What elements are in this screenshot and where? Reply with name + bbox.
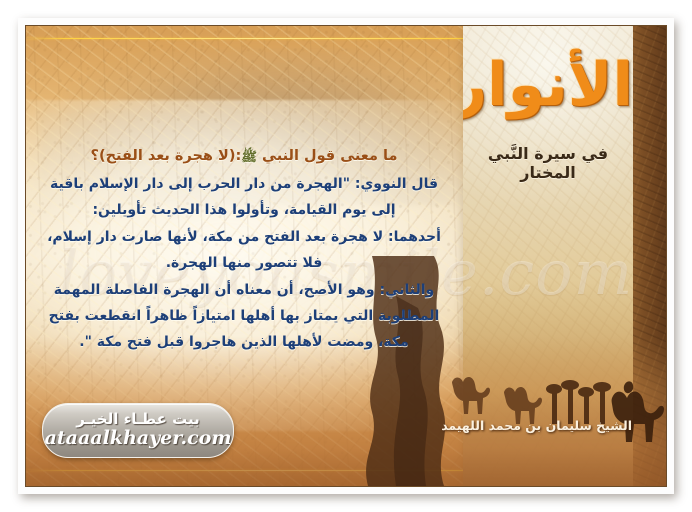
body-line: فلا تتصور منها الهجرة. (34, 253, 454, 274)
sallallahu-alayhi-wasallam-icon: ﷺ (241, 149, 257, 168)
body-line: مكة، ومضت لأهلها الذين هاجروا قبل فتح مك… (34, 332, 454, 353)
book-sub-title: في سيرة النَّبي المختار (463, 144, 633, 182)
body-line: المطلوبة التي يمتاز بها أهلها امتيازاً ظ… (34, 306, 454, 327)
body-line: قال النووي: "الهجرة من دار الحرب إلى دار… (34, 174, 454, 195)
camel-caravan-silhouette (416, 346, 667, 464)
article-text-block: ما معنى قول النبي ﷺ:(لا هجرة بعد الفتح)؟… (34, 146, 454, 358)
question-heading-before: ما معنى قول النبي (262, 148, 397, 164)
poster-root: loveyousmile.com الأنوار في سيرة النَّبي… (0, 0, 692, 512)
poster-canvas: loveyousmile.com الأنوار في سيرة النَّبي… (25, 25, 667, 487)
question-heading-after: :(لا هجرة بعد الفتح)؟ (91, 148, 242, 164)
question-heading: ما معنى قول النبي ﷺ:(لا هجرة بعد الفتح)؟ (34, 146, 454, 167)
site-logo-badge[interactable]: بيت عطـاء الخيـر ataaalkhayer.com (42, 403, 234, 458)
author-credit: الشيخ سليمان بن محمد اللهيمد (441, 418, 632, 433)
body-line: والثاني: وهو الأصح، أن معناه أن الهجرة ا… (34, 280, 454, 301)
site-logo-url: ataaalkhayer.com (45, 428, 232, 450)
book-main-title: الأنوار (463, 48, 633, 123)
body-line: أحدهما: لا هجرة بعد الفتح من مكة، لأنها … (34, 227, 454, 248)
site-logo-arabic-name: بيت عطـاء الخيـر (76, 411, 200, 428)
body-line: إلى يوم القيامة، وتأولوا هذا الحديث تأوي… (34, 200, 454, 221)
